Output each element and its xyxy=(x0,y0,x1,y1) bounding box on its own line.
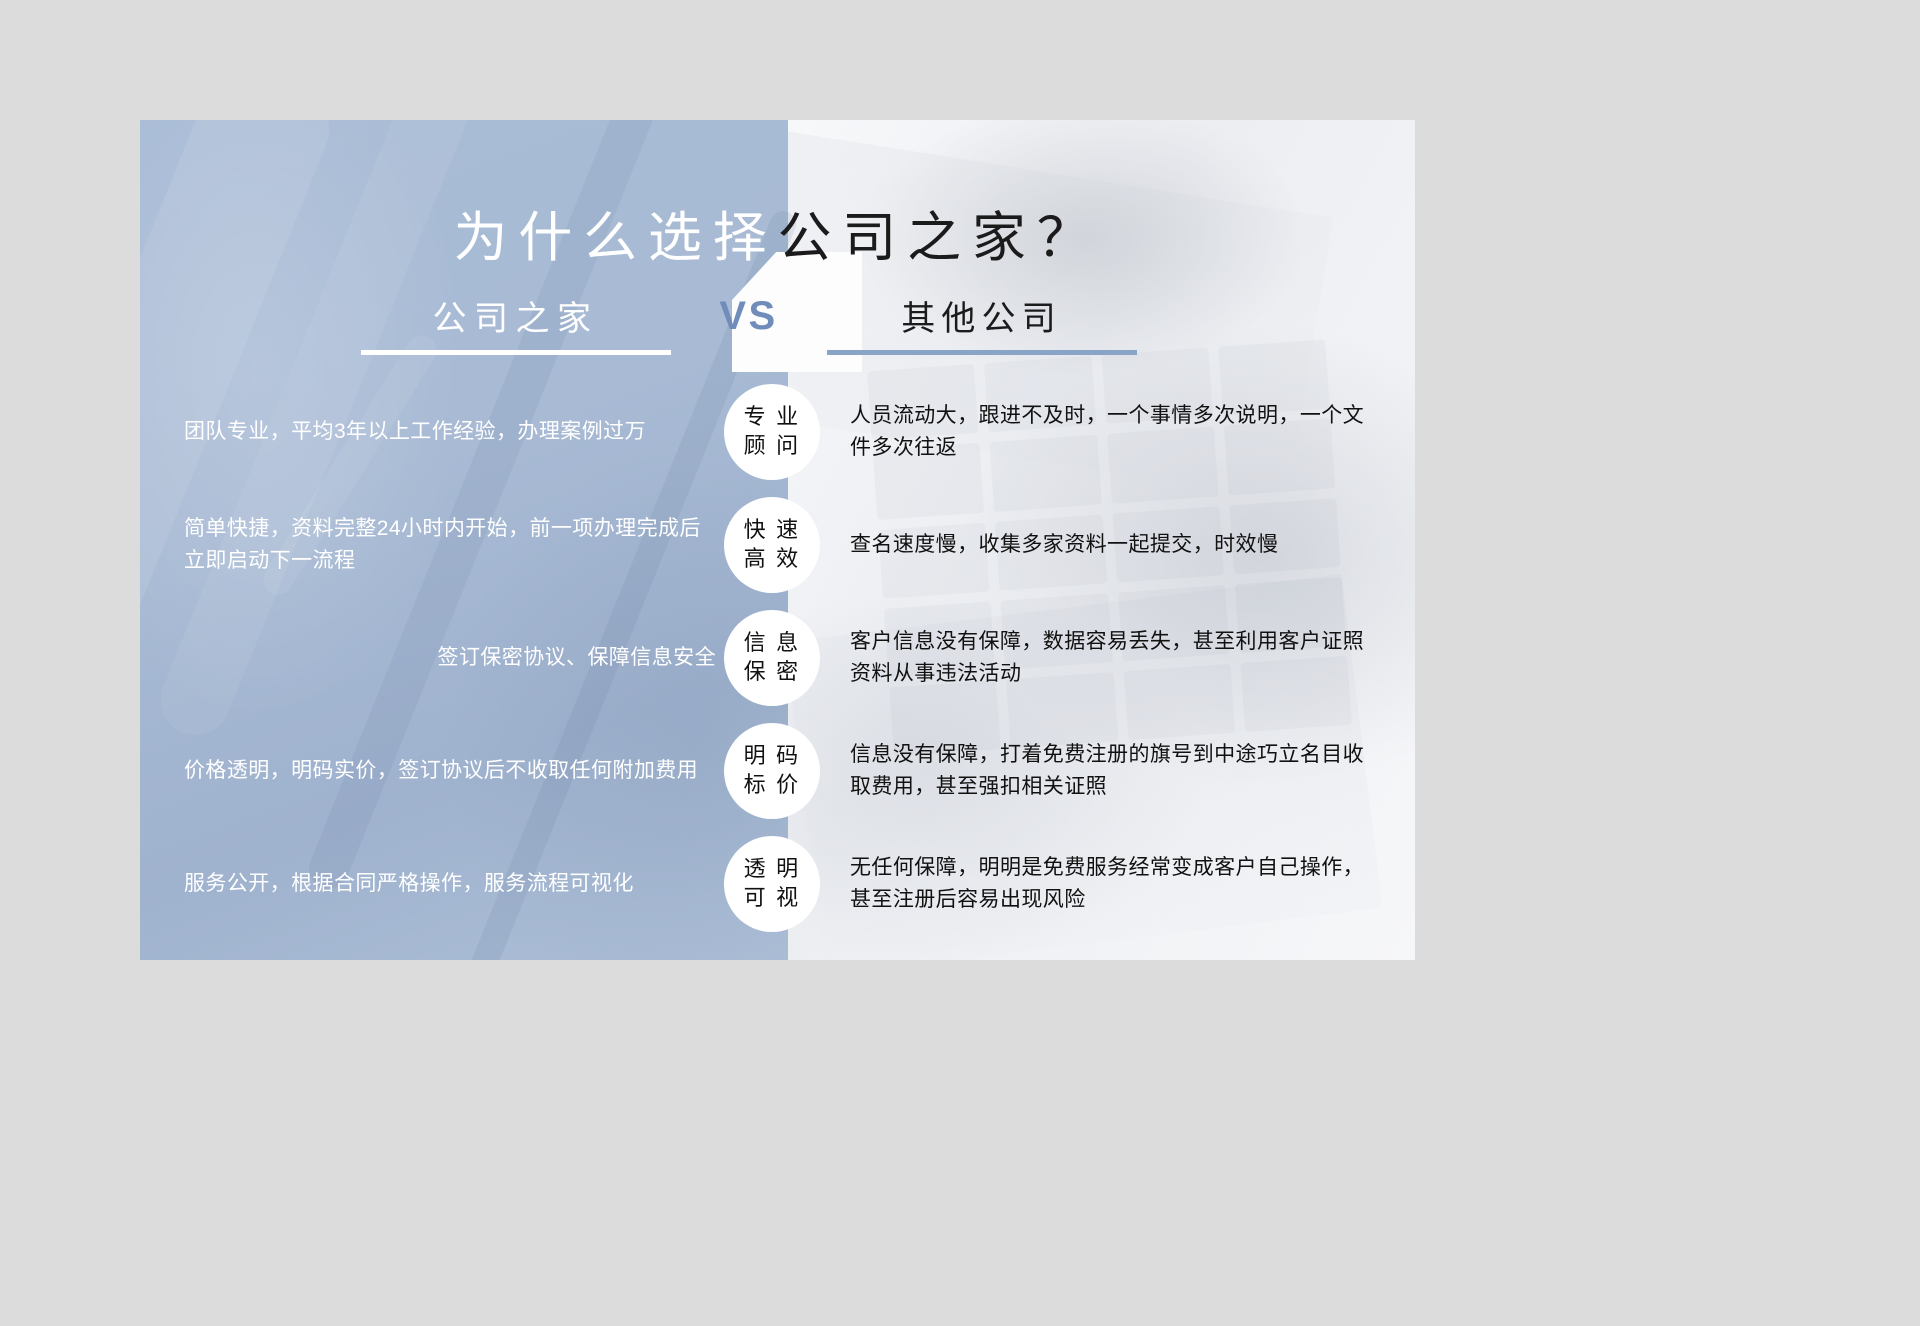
row-right-text: 人员流动大，跟进不及时，一个事情多次说明，一个文件多次往返 xyxy=(820,400,1415,463)
left-column-header-wrap: 公司之家 xyxy=(199,291,701,355)
row-category-line2: 高 效 xyxy=(744,545,801,573)
row-category-line2: 可 视 xyxy=(744,884,801,912)
row-left-text: 团队专业，平均3年以上工作经验，办理案例过万 xyxy=(140,416,736,448)
table-row: 签订保密协议、保障信息安全 信 息 保 密 客户信息没有保障，数据容易丢失，甚至… xyxy=(140,601,1415,714)
row-right-text: 客户信息没有保障，数据容易丢失，甚至利用客户证照资料从事违法活动 xyxy=(820,626,1415,689)
page-title: 为什么选择公司之家？ xyxy=(140,211,1415,265)
title-white-part: 为什么选择 xyxy=(454,208,778,268)
table-row: 价格透明，明码实价，签订协议后不收取任何附加费用 明 码 标 价 信息没有保障，… xyxy=(140,714,1415,827)
row-left-text: 价格透明，明码实价，签订协议后不收取任何附加费用 xyxy=(140,755,736,787)
title-dark-part: 公司之家？ xyxy=(778,208,1102,268)
row-category-badge: 透 明 可 视 xyxy=(724,836,820,932)
right-column-header-wrap: 其他公司 xyxy=(797,291,1357,355)
table-row: 团队专业，平均3年以上工作经验，办理案例过万 专 业 顾 问 人员流动大，跟进不… xyxy=(140,375,1415,488)
row-left-text: 签订保密协议、保障信息安全 xyxy=(140,642,736,674)
row-category-badge: 专 业 顾 问 xyxy=(724,384,820,480)
row-category-badge: 明 码 标 价 xyxy=(724,723,820,819)
row-category-badge: 信 息 保 密 xyxy=(724,610,820,706)
vs-badge: VS xyxy=(701,294,797,355)
row-category-line2: 顾 问 xyxy=(744,432,801,460)
left-column-label: 公司之家 xyxy=(361,291,671,355)
row-category-line1: 信 息 xyxy=(744,629,801,657)
table-row: 简单快捷，资料完整24小时内开始，前一项办理完成后立即启动下一流程 快 速 高 … xyxy=(140,488,1415,601)
row-right-text: 无任何保障，明明是免费服务经常变成客户自己操作，甚至注册后容易出现风险 xyxy=(820,852,1415,915)
versus-header: 公司之家 VS 其他公司 xyxy=(140,285,1415,355)
row-right-text: 信息没有保障，打着免费注册的旗号到中途巧立名目收取费用，甚至强扣相关证照 xyxy=(820,739,1415,802)
row-category-line2: 保 密 xyxy=(744,658,801,686)
row-right-text: 查名速度慢，收集多家资料一起提交，时效慢 xyxy=(820,529,1415,561)
row-category-line1: 明 码 xyxy=(744,742,801,770)
comparison-rows: 团队专业，平均3年以上工作经验，办理案例过万 专 业 顾 问 人员流动大，跟进不… xyxy=(140,375,1415,940)
right-column-label: 其他公司 xyxy=(827,291,1137,355)
row-left-text: 简单快捷，资料完整24小时内开始，前一项办理完成后立即启动下一流程 xyxy=(140,513,736,576)
row-category-line2: 标 价 xyxy=(744,771,801,799)
comparison-card: 为什么选择公司之家？ 公司之家 VS 其他公司 团队专业，平均3年以上工作经验，… xyxy=(140,120,1415,960)
row-category-line1: 透 明 xyxy=(744,855,801,883)
row-category-line1: 专 业 xyxy=(744,403,801,431)
row-category-badge: 快 速 高 效 xyxy=(724,497,820,593)
row-category-line1: 快 速 xyxy=(744,516,801,544)
row-left-text: 服务公开，根据合同严格操作，服务流程可视化 xyxy=(140,868,736,900)
poster-stage: 为什么选择公司之家？ 公司之家 VS 其他公司 团队专业，平均3年以上工作经验，… xyxy=(0,0,1920,1326)
table-row: 服务公开，根据合同严格操作，服务流程可视化 透 明 可 视 无任何保障，明明是免… xyxy=(140,827,1415,940)
